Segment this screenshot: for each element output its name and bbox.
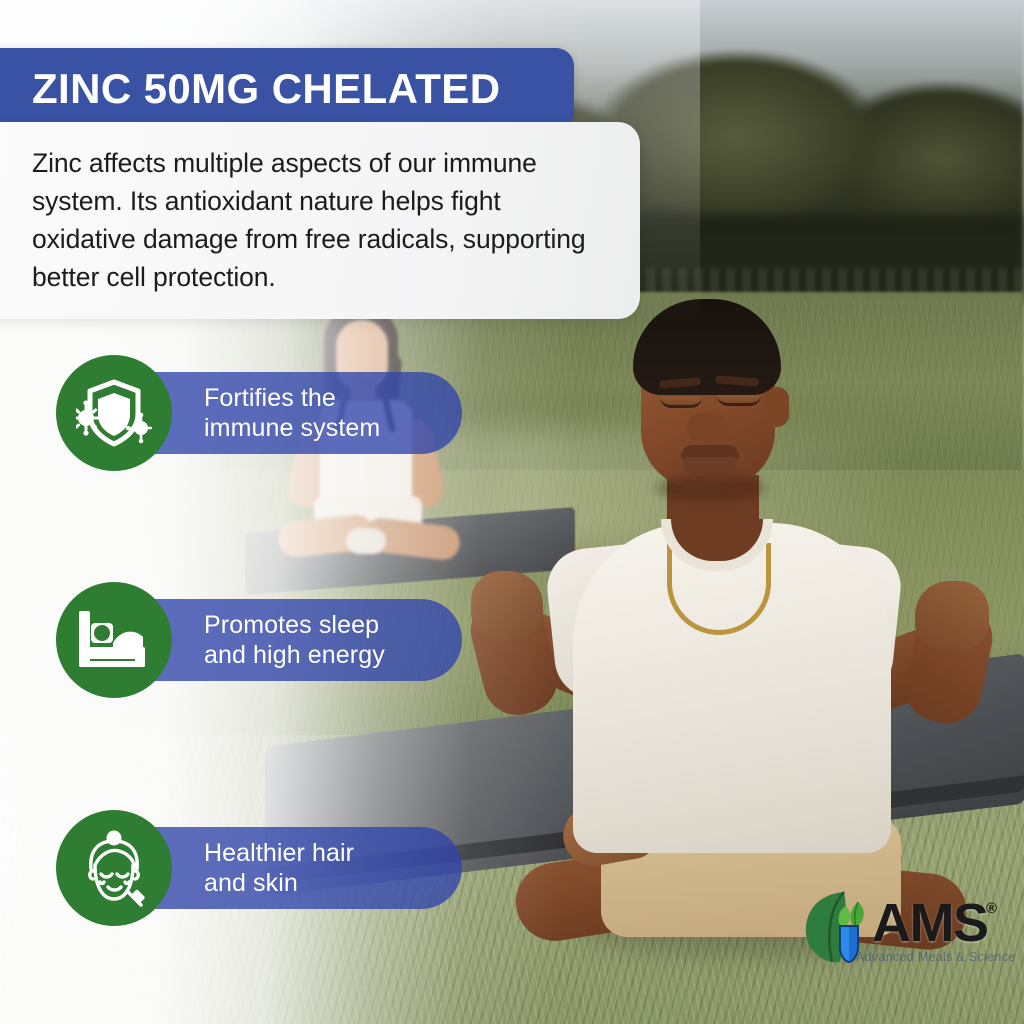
benefit-pill-hair-skin: Healthier hair and skin [146, 827, 462, 909]
benefit-pill-immune: Fortifies the immune system [146, 372, 462, 454]
benefit-label-sleep: Promotes sleep and high energy [204, 610, 385, 671]
benefit-label-hair-skin: Healthier hair and skin [204, 838, 354, 899]
benefit-pill-sleep: Promotes sleep and high energy [146, 599, 462, 681]
benefit-row-immune: Fortifies the immune system [56, 355, 462, 471]
description-text: Zinc affects multiple aspects of our imm… [32, 144, 600, 297]
ams-wordmark: AMS [872, 896, 988, 950]
benefit-row-hair-skin: Healthier hair and skin [56, 810, 462, 926]
woman-face-icon [56, 810, 172, 926]
page-title: ZINC 50MG CHELATED [32, 68, 500, 110]
ams-tagline: Advanced Meals & Science [856, 950, 1015, 964]
bed-sleep-icon [56, 582, 172, 698]
shield-virus-icon [56, 355, 172, 471]
registered-trademark-icon: ® [986, 900, 997, 917]
benefit-row-sleep: Promotes sleep and high energy [56, 582, 462, 698]
ams-logo: AMS ® Advanced Meals & Science [800, 882, 1006, 986]
benefit-label-immune: Fortifies the immune system [204, 383, 380, 444]
description-card: Zinc affects multiple aspects of our imm… [0, 122, 640, 319]
infographic-canvas: ZINC 50MG CHELATED Zinc affects multiple… [0, 0, 1024, 1024]
title-banner: ZINC 50MG CHELATED [0, 48, 574, 130]
